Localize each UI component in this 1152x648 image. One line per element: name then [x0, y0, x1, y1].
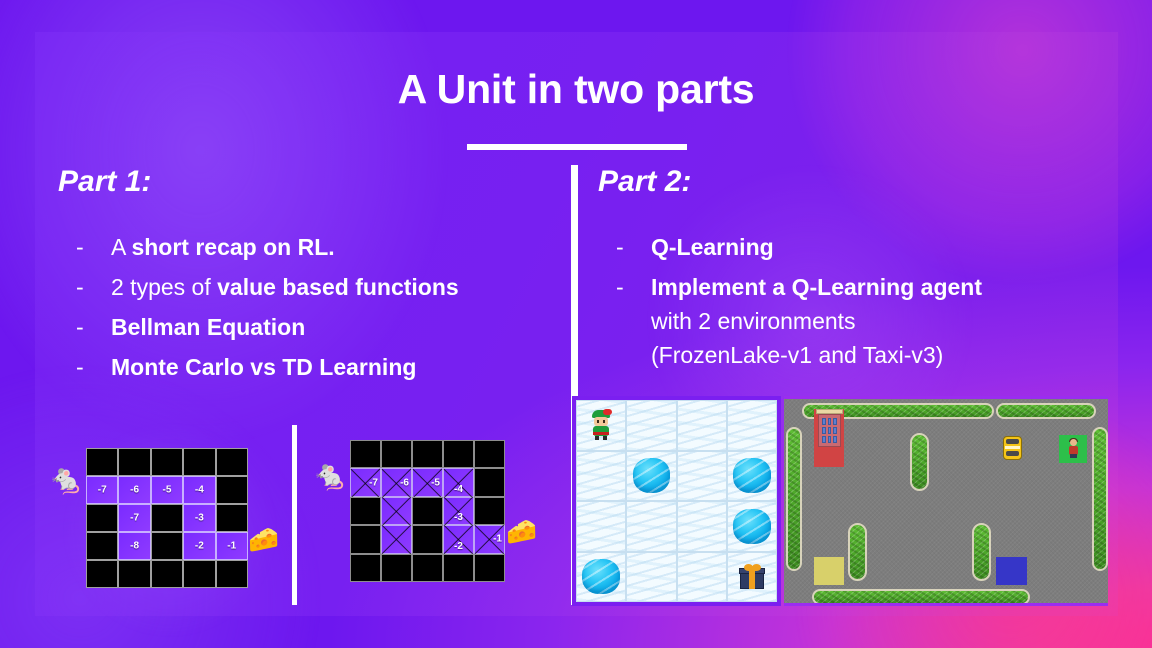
maze-cell-wall — [412, 497, 443, 525]
maze-cell-action-value: -4 — [443, 468, 474, 496]
zone-yellow — [814, 557, 844, 585]
hedge — [910, 433, 929, 491]
maze-cell-wall — [216, 504, 248, 532]
hedge — [812, 589, 1030, 605]
maze-cell-wall — [86, 504, 118, 532]
ice-hole-icon — [633, 458, 671, 493]
maze-cell-wall — [350, 525, 381, 553]
maze-cell-wall — [151, 504, 183, 532]
maze-cell-label: -7 — [87, 485, 117, 496]
maze-cell-action-value — [381, 497, 412, 525]
maze-cell-wall — [216, 560, 248, 588]
maze-cell-label: -6 — [400, 477, 409, 488]
maze-cell-label: -1 — [217, 541, 247, 552]
maze-cell-label: -1 — [493, 534, 502, 545]
maze-cell-label: -7 — [369, 477, 378, 488]
action-value-maze: -7-6-5-4-3-2-1 — [350, 440, 505, 582]
maze-cell-label: -4 — [444, 484, 473, 495]
maze-cell-value: -4 — [183, 476, 215, 504]
maze-cell-label: -2 — [184, 541, 214, 552]
part1-heading: Part 1: — [58, 165, 151, 199]
maze-cell-wall — [118, 448, 150, 476]
passenger-icon — [1067, 439, 1080, 458]
part2-heading: Part 2: — [598, 165, 691, 199]
maze-cell-wall — [350, 554, 381, 582]
maze-cell-value: -7 — [118, 504, 150, 532]
maze-cell-value: -1 — [216, 532, 248, 560]
gift-icon — [739, 565, 765, 589]
maze-cell-wall — [381, 554, 412, 582]
maze-cell-value: -3 — [183, 504, 215, 532]
maze-cell-label: -8 — [119, 541, 149, 552]
cheese-emoji: 🧀 — [506, 520, 537, 545]
maze-cell-wall — [474, 468, 505, 496]
bullet-bold: short recap on RL. — [131, 234, 334, 260]
part1-bullet-list: - A short recap on RL. - 2 types of valu… — [76, 230, 556, 390]
maze-cell-value: -7 — [86, 476, 118, 504]
hedge — [996, 403, 1096, 419]
bullet-continuation-1: with 2 environments — [651, 308, 856, 334]
frozenlake-tile-hole — [727, 451, 777, 502]
frozenlake-tile-ice — [576, 501, 626, 552]
maze-divider — [292, 425, 297, 605]
bullet-text: Implement a Q-Learning agent with 2 envi… — [651, 270, 982, 372]
frozenlake-tile-ice — [626, 552, 676, 603]
ice-hole-icon — [733, 509, 771, 544]
maze-cell-action-value: -5 — [412, 468, 443, 496]
maze-cell-value: -5 — [151, 476, 183, 504]
bullet-dash: - — [76, 230, 111, 264]
mouse-emoji: 🐁 — [48, 466, 84, 495]
maze-cell-action-value: -7 — [350, 468, 381, 496]
maze-cell-action-value: -6 — [381, 468, 412, 496]
maze-cell-wall — [151, 448, 183, 476]
maze-cell-label: -3 — [444, 512, 473, 523]
bullet-bold: value based functions — [217, 274, 459, 300]
bullet-text: A short recap on RL. — [111, 230, 335, 264]
maze-cell-label: -4 — [184, 485, 214, 496]
bullet-dash: - — [616, 270, 651, 304]
building-wall — [818, 414, 841, 447]
title-underline — [467, 144, 687, 150]
maze-cell-action-value: -3 — [443, 497, 474, 525]
frozenlake-tile-ice — [576, 451, 626, 502]
frozenlake-tile-ice — [727, 400, 777, 451]
mouse-emoji: 🐁 — [312, 462, 348, 491]
maze-cell-label: -2 — [444, 541, 473, 552]
maze-cell-action-value — [381, 525, 412, 553]
frozenlake-tile-ice — [677, 451, 727, 502]
maze-cell-wall — [350, 497, 381, 525]
maze-cell-wall — [86, 448, 118, 476]
maze-cell-label: -5 — [152, 485, 182, 496]
bullet-text: Q-Learning — [651, 230, 774, 264]
maze-cell-wall — [443, 440, 474, 468]
maze-cell-action-value: -1 — [474, 525, 505, 553]
elf-icon — [589, 410, 613, 440]
list-item: - Bellman Equation — [76, 310, 556, 344]
maze-cell-wall — [151, 560, 183, 588]
slide-content: A Unit in two parts Part 1: - A short re… — [0, 0, 1152, 648]
frozenlake-tile-ice — [677, 552, 727, 603]
frozenlake-tile-start — [576, 400, 626, 451]
frozenlake-tile-ice — [677, 400, 727, 451]
bullet-text: Bellman Equation — [111, 310, 305, 344]
maze-cell-action-value: -2 — [443, 525, 474, 553]
frozenlake-tile-ice — [626, 400, 676, 451]
maze-cell-wall — [86, 560, 118, 588]
maze-cell-label: -5 — [431, 477, 440, 488]
maze-cell-value: -6 — [118, 476, 150, 504]
maze-cell-wall — [474, 554, 505, 582]
bullet-prefix: 2 types of — [111, 274, 217, 300]
maze-cell-wall — [350, 440, 381, 468]
hedge — [848, 523, 867, 581]
frozenlake-tile-ice — [626, 501, 676, 552]
state-value-maze: -7-6-5-4-7-3-8-2-1 — [86, 448, 248, 588]
maze-cell-wall — [216, 448, 248, 476]
frozenlake-environment — [572, 396, 781, 606]
maze-cell-wall — [412, 525, 443, 553]
taxi-cab-icon — [1003, 436, 1022, 460]
action-split-icon — [382, 498, 411, 524]
maze-cell-wall — [474, 440, 505, 468]
frozenlake-tile-hole — [727, 501, 777, 552]
list-item: - 2 types of value based functions — [76, 270, 556, 304]
page-title: A Unit in two parts — [0, 66, 1152, 113]
maze-cell-label: -6 — [119, 485, 149, 496]
frozenlake-tile-hole — [576, 552, 626, 603]
maze-cell-wall — [216, 476, 248, 504]
maze-cell-wall — [151, 532, 183, 560]
maze-cell-wall — [183, 448, 215, 476]
maze-cell-wall — [118, 560, 150, 588]
list-item: - Implement a Q-Learning agent with 2 en… — [616, 270, 1086, 372]
bullet-text: Monte Carlo vs TD Learning — [111, 350, 416, 384]
part2-bullet-list: - Q-Learning - Implement a Q-Learning ag… — [616, 230, 1086, 378]
maze-cell-wall — [183, 560, 215, 588]
frozenlake-tile-ice — [677, 501, 727, 552]
bullet-text: 2 types of value based functions — [111, 270, 459, 304]
bullet-dash: - — [616, 230, 651, 264]
maze-cell-wall — [86, 532, 118, 560]
list-item: - Q-Learning — [616, 230, 1086, 264]
ice-hole-icon — [582, 559, 620, 594]
maze-cell-value: -2 — [183, 532, 215, 560]
building-icon — [816, 409, 843, 447]
hedge — [972, 523, 991, 581]
action-split-icon — [382, 526, 411, 552]
maze-cell-wall — [474, 497, 505, 525]
maze-cell-label: -7 — [119, 513, 149, 524]
bullet-dash: - — [76, 270, 111, 304]
maze-cell-wall — [381, 440, 412, 468]
maze-cell-wall — [412, 440, 443, 468]
bullet-dash: - — [76, 310, 111, 344]
frozenlake-tile-hole — [626, 451, 676, 502]
ice-hole-icon — [733, 458, 771, 493]
frozenlake-tile-goal — [727, 552, 777, 603]
maze-cell-label: -3 — [184, 513, 214, 524]
taxi-environment — [784, 396, 1108, 606]
maze-cell-wall — [412, 554, 443, 582]
cheese-emoji: 🧀 — [248, 528, 279, 553]
maze-cell-wall — [443, 554, 474, 582]
list-item: - Monte Carlo vs TD Learning — [76, 350, 556, 384]
hedge — [1092, 427, 1108, 571]
zone-blue — [996, 557, 1027, 585]
maze-cell-value: -8 — [118, 532, 150, 560]
bullet-dash: - — [76, 350, 111, 384]
bullet-continuation-2: (FrozenLake-v1 and Taxi-v3) — [651, 342, 943, 368]
hedge — [786, 427, 802, 571]
bullet-bold: Implement a Q-Learning agent — [651, 274, 982, 300]
list-item: - A short recap on RL. — [76, 230, 556, 264]
bullet-prefix: A — [111, 234, 131, 260]
